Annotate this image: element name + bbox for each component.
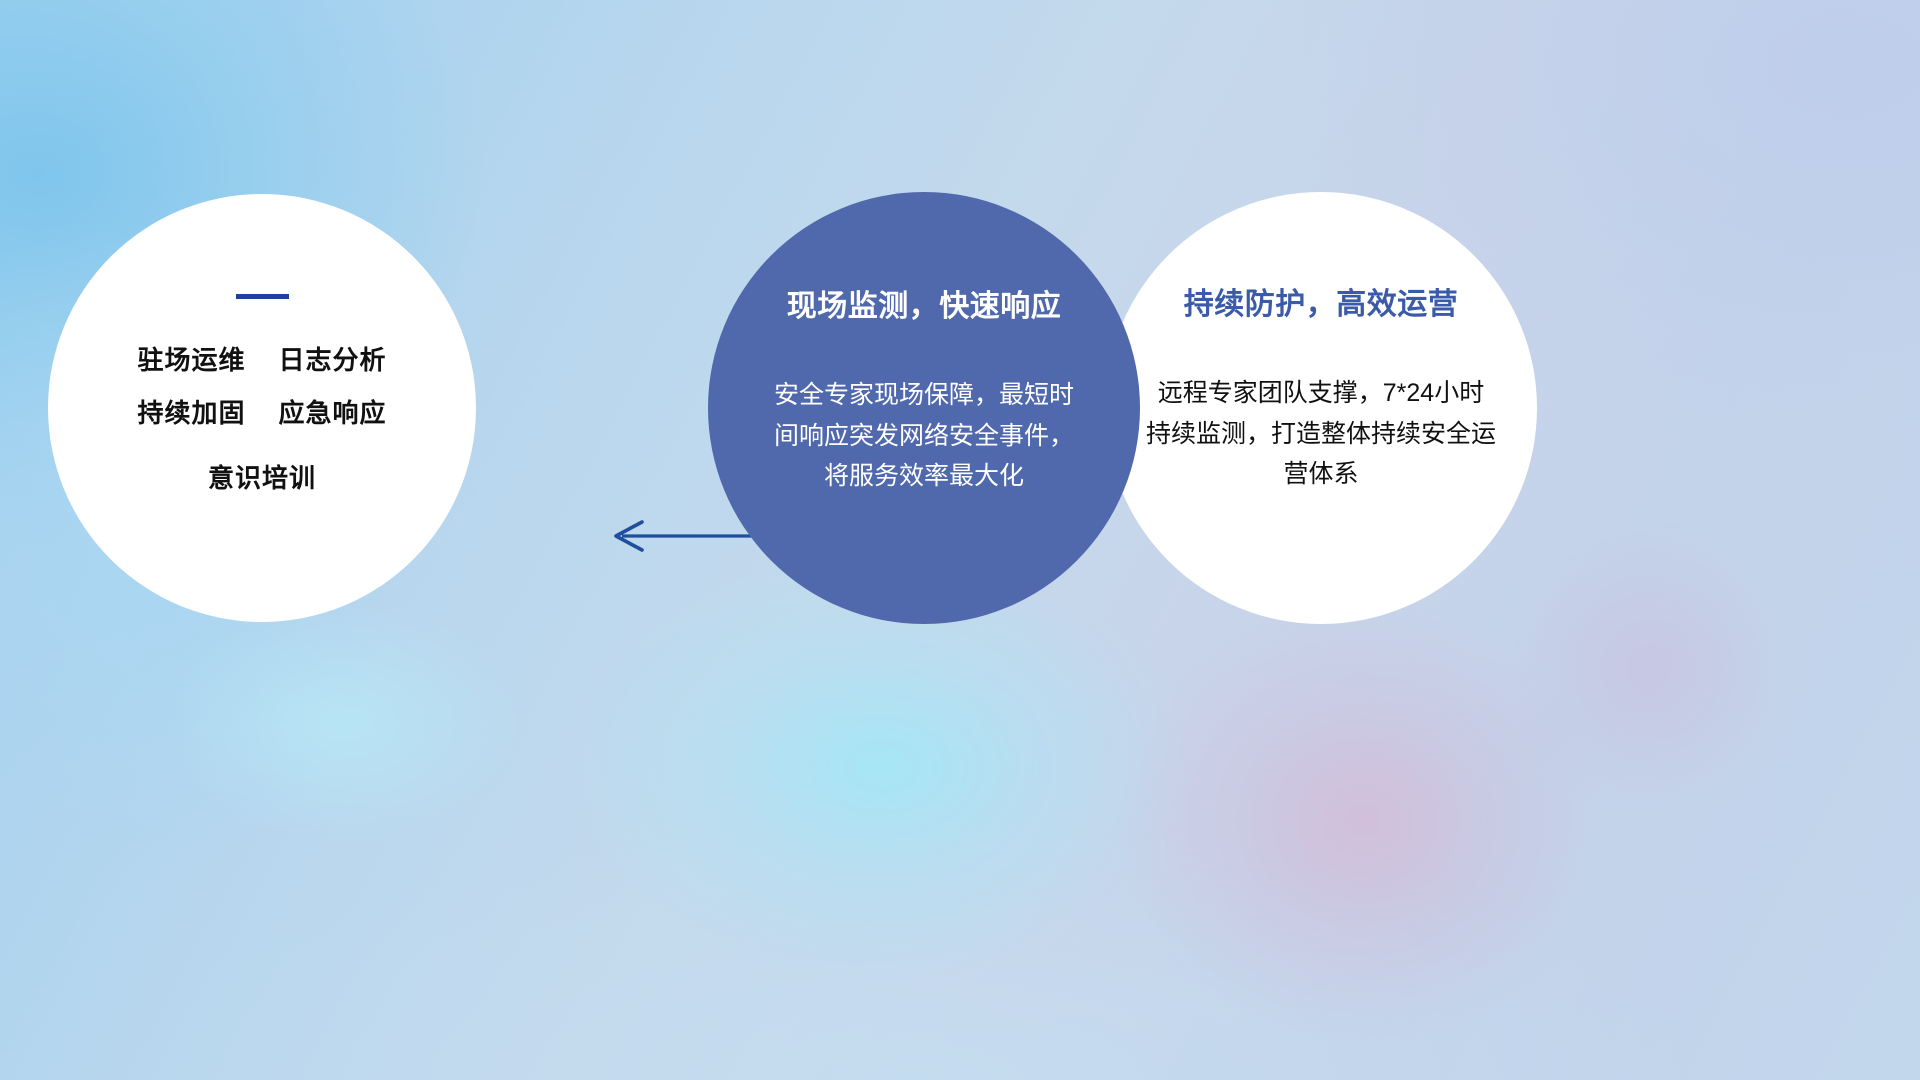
onsite-monitoring-body: 安全专家现场保障，最短时间响应突发网络安全事件，将服务效率最大化: [774, 375, 1074, 497]
continuous-protection-title: 持续防护，高效运营: [1184, 288, 1459, 321]
onsite-monitoring-circle: 现场监测，快速响应 安全专家现场保障，最短时间响应突发网络安全事件，将服务效率最…: [708, 192, 1140, 624]
onsite-monitoring-content: 现场监测，快速响应 安全专家现场保障，最短时间响应突发网络安全事件，将服务效率最…: [708, 192, 1140, 624]
continuous-protection-circle: 持续防护，高效运营 远程专家团队支撑，7*24小时持续监测，打造整体持续安全运营…: [1105, 192, 1537, 624]
capability-line-3: 意识培训: [208, 465, 316, 491]
onsite-monitoring-title: 现场监测，快速响应: [787, 290, 1062, 323]
slide-canvas: 驻场运维 日志分析 持续加固 应急响应 意识培训 现场监测，快速响应 安全专家现…: [0, 0, 1920, 1080]
horizontal-dash-icon: [236, 294, 289, 299]
capability-line-1: 驻场运维 日志分析: [138, 347, 387, 373]
capability-line-2: 持续加固 应急响应: [138, 400, 387, 426]
continuous-protection-content: 持续防护，高效运营 远程专家团队支撑，7*24小时持续监测，打造整体持续安全运营…: [1105, 192, 1537, 624]
capability-circle-content: 驻场运维 日志分析 持续加固 应急响应 意识培训: [48, 194, 476, 622]
continuous-protection-body: 远程专家团队支撑，7*24小时持续监测，打造整体持续安全运营体系: [1146, 373, 1496, 495]
capability-circle: 驻场运维 日志分析 持续加固 应急响应 意识培训: [48, 194, 476, 622]
